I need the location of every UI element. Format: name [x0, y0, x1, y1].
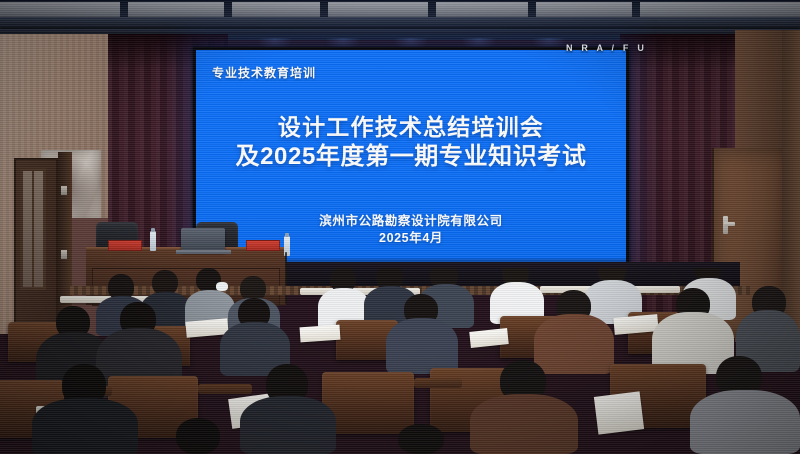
hinge-icon	[61, 250, 67, 259]
seat-arm	[414, 378, 462, 388]
photo-scene: 专业技术教育培训 设计工作技术总结培训会 及2025年度第一期专业知识考试 滨州…	[0, 0, 800, 454]
seat-arm	[198, 384, 252, 394]
water-bottle	[150, 231, 156, 251]
name-placard	[108, 240, 142, 251]
door-handle-icon[interactable]	[724, 222, 735, 226]
audience-area	[0, 268, 800, 454]
name-placard	[246, 240, 280, 251]
channel-watermark: N R A / F U	[566, 43, 647, 53]
paper	[300, 325, 341, 343]
slide-organization: 滨州市公路勘察设计院有限公司	[196, 213, 626, 230]
slide-title-line1: 设计工作技术总结培训会	[196, 112, 626, 142]
slide-kicker: 专业技术教育培训	[212, 64, 316, 81]
laptop	[181, 228, 225, 252]
paper	[594, 391, 644, 434]
led-screen: 专业技术教育培训 设计工作技术总结培训会 及2025年度第一期专业知识考试 滨州…	[196, 50, 626, 262]
slide-title-line2: 及2025年度第一期专业知识考试	[196, 142, 626, 172]
slide-title: 设计工作技术总结培训会 及2025年度第一期专业知识考试	[196, 112, 626, 172]
hinge-icon	[61, 186, 67, 195]
